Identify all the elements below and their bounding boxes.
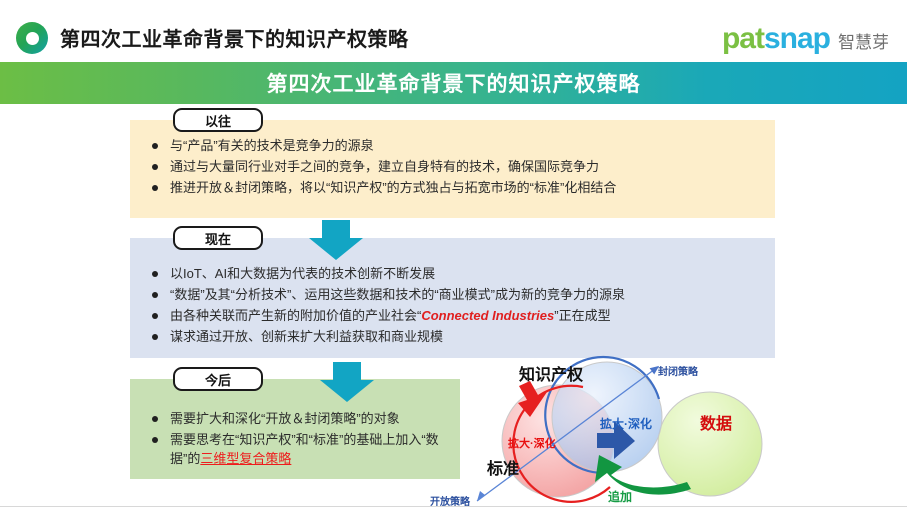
bullet-text: 通过与大量同行业对手之间的竞争，建立自身特有的技术，确保国际竞争力 <box>170 157 599 176</box>
logo-text-snap: snap <box>764 22 830 56</box>
bullet-dot-icon <box>152 334 158 340</box>
panel-now-bullets: 以IoT、AI和大数据为代表的技术创新不断发展 “数据”及其“分析技术”、运用这… <box>152 264 765 348</box>
title-band-text: 第四次工业革命背景下的知识产权策略 <box>267 68 641 98</box>
list-item: 以IoT、AI和大数据为代表的技术创新不断发展 <box>152 264 765 283</box>
venn-label-expand-ip: 拡大·深化 <box>600 415 652 432</box>
venn-label-standard: 标准 <box>487 455 519 479</box>
section-tab-future: 今后 <box>173 367 263 391</box>
page-title: 第四次工业革命背景下的知识产权策略 <box>60 23 409 52</box>
venn-label-data: 数据 <box>700 410 732 434</box>
slide-header: 第四次工业革命背景下的知识产权策略 patsnap 智慧芽 <box>0 0 907 62</box>
venn-label-add: 追加 <box>608 488 632 505</box>
bullet-text: 谋求通过开放、创新来扩大利益获取和商业规模 <box>170 327 443 346</box>
list-item: “数据”及其“分析技术”、运用这些数据和技术的“商业模式”成为新的竞争力的源泉 <box>152 285 765 304</box>
bullet-dot-icon <box>152 313 158 319</box>
down-arrow-icon-2 <box>320 362 374 402</box>
list-item: 与“产品”有关的技术是竞争力的源泉 <box>152 136 765 155</box>
panel-past: 与“产品”有关的技术是竞争力的源泉 通过与大量同行业对手之间的竞争，建立自身特有… <box>130 120 775 218</box>
bullet-text-part-b: ”正在成型 <box>554 308 610 323</box>
emphasis-three-dimensional-strategy: 三维型复合策略 <box>200 451 291 466</box>
venn-diagram: 知识产权 标准 数据 封闭策略 开放策略 拡大·深化 拡大·深化 追加 <box>455 355 907 511</box>
bullet-text-connected: 由各种关联而产生新的附加价值的产业社会“Connected Industries… <box>170 306 611 325</box>
bullet-text: 推进开放＆封闭策略，将以“知识产权”的方式独占与拓宽市场的“标准”化相结合 <box>170 178 616 197</box>
down-arrow-icon-1 <box>309 220 363 260</box>
venn-label-closed-strategy: 封闭策略 <box>658 363 698 378</box>
section-tab-now: 现在 <box>173 226 263 250</box>
patsnap-logo: patsnap 智慧芽 <box>722 22 889 56</box>
list-item: 由各种关联而产生新的附加价值的产业社会“Connected Industries… <box>152 306 765 325</box>
emphasis-connected-industries: Connected Industries <box>421 308 554 323</box>
list-item: 推进开放＆封闭策略，将以“知识产权”的方式独占与拓宽市场的“标准”化相结合 <box>152 178 765 197</box>
venn-label-ip: 知识产权 <box>519 361 583 385</box>
bullet-dot-icon <box>152 437 158 443</box>
bullet-text: 需要扩大和深化“开放＆封闭策略”的对象 <box>170 409 400 428</box>
bullet-text: 以IoT、AI和大数据为代表的技术创新不断发展 <box>170 264 435 283</box>
logo-text-pat: pat <box>722 22 764 56</box>
venn-label-open-strategy: 开放策略 <box>430 493 470 508</box>
list-item: 需要扩大和深化“开放＆封闭策略”的对象 <box>152 409 450 428</box>
bullet-text-strategy: 需要思考在“知识产权”和“标准”的基础上加入“数据”的三维型复合策略 <box>170 430 450 468</box>
bullet-text: 与“产品”有关的技术是竞争力的源泉 <box>170 136 374 155</box>
section-tab-past: 以往 <box>173 108 263 132</box>
panel-now: 以IoT、AI和大数据为代表的技术创新不断发展 “数据”及其“分析技术”、运用这… <box>130 238 775 358</box>
bullet-dot-icon <box>152 185 158 191</box>
bullet-dot-icon <box>152 143 158 149</box>
list-item: 需要思考在“知识产权”和“标准”的基础上加入“数据”的三维型复合策略 <box>152 430 450 468</box>
slide-canvas: 第四次工业革命背景下的知识产权策略 patsnap 智慧芽 第四次工业革命背景下… <box>0 0 907 511</box>
bullet-dot-icon <box>152 164 158 170</box>
list-item: 谋求通过开放、创新来扩大利益获取和商业规模 <box>152 327 765 346</box>
list-item: 通过与大量同行业对手之间的竞争，建立自身特有的技术，确保国际竞争力 <box>152 157 765 176</box>
panel-future: 需要扩大和深化“开放＆封闭策略”的对象 需要思考在“知识产权”和“标准”的基础上… <box>130 379 460 479</box>
bullet-dot-icon <box>152 416 158 422</box>
bullet-dot-icon <box>152 292 158 298</box>
bullet-text: “数据”及其“分析技术”、运用这些数据和技术的“商业模式”成为新的竞争力的源泉 <box>170 285 625 304</box>
bullet-text-lead: 需要思考在“知识产权”和“标准”的基础上加入 <box>170 432 421 447</box>
panel-past-bullets: 与“产品”有关的技术是竞争力的源泉 通过与大量同行业对手之间的竞争，建立自身特有… <box>152 136 765 199</box>
venn-circle-data <box>658 392 762 496</box>
patsnap-ring-icon <box>16 22 48 54</box>
venn-label-expand-standard: 拡大·深化 <box>508 435 556 451</box>
logo-text-chinese: 智慧芽 <box>838 28 889 53</box>
title-band: 第四次工业革命背景下的知识产权策略 <box>0 62 907 104</box>
bullet-text-part-a: 由各种关联而产生新的附加价值的产业社会“ <box>170 308 421 323</box>
panel-future-bullets: 需要扩大和深化“开放＆封闭策略”的对象 需要思考在“知识产权”和“标准”的基础上… <box>152 409 450 470</box>
bullet-dot-icon <box>152 271 158 277</box>
